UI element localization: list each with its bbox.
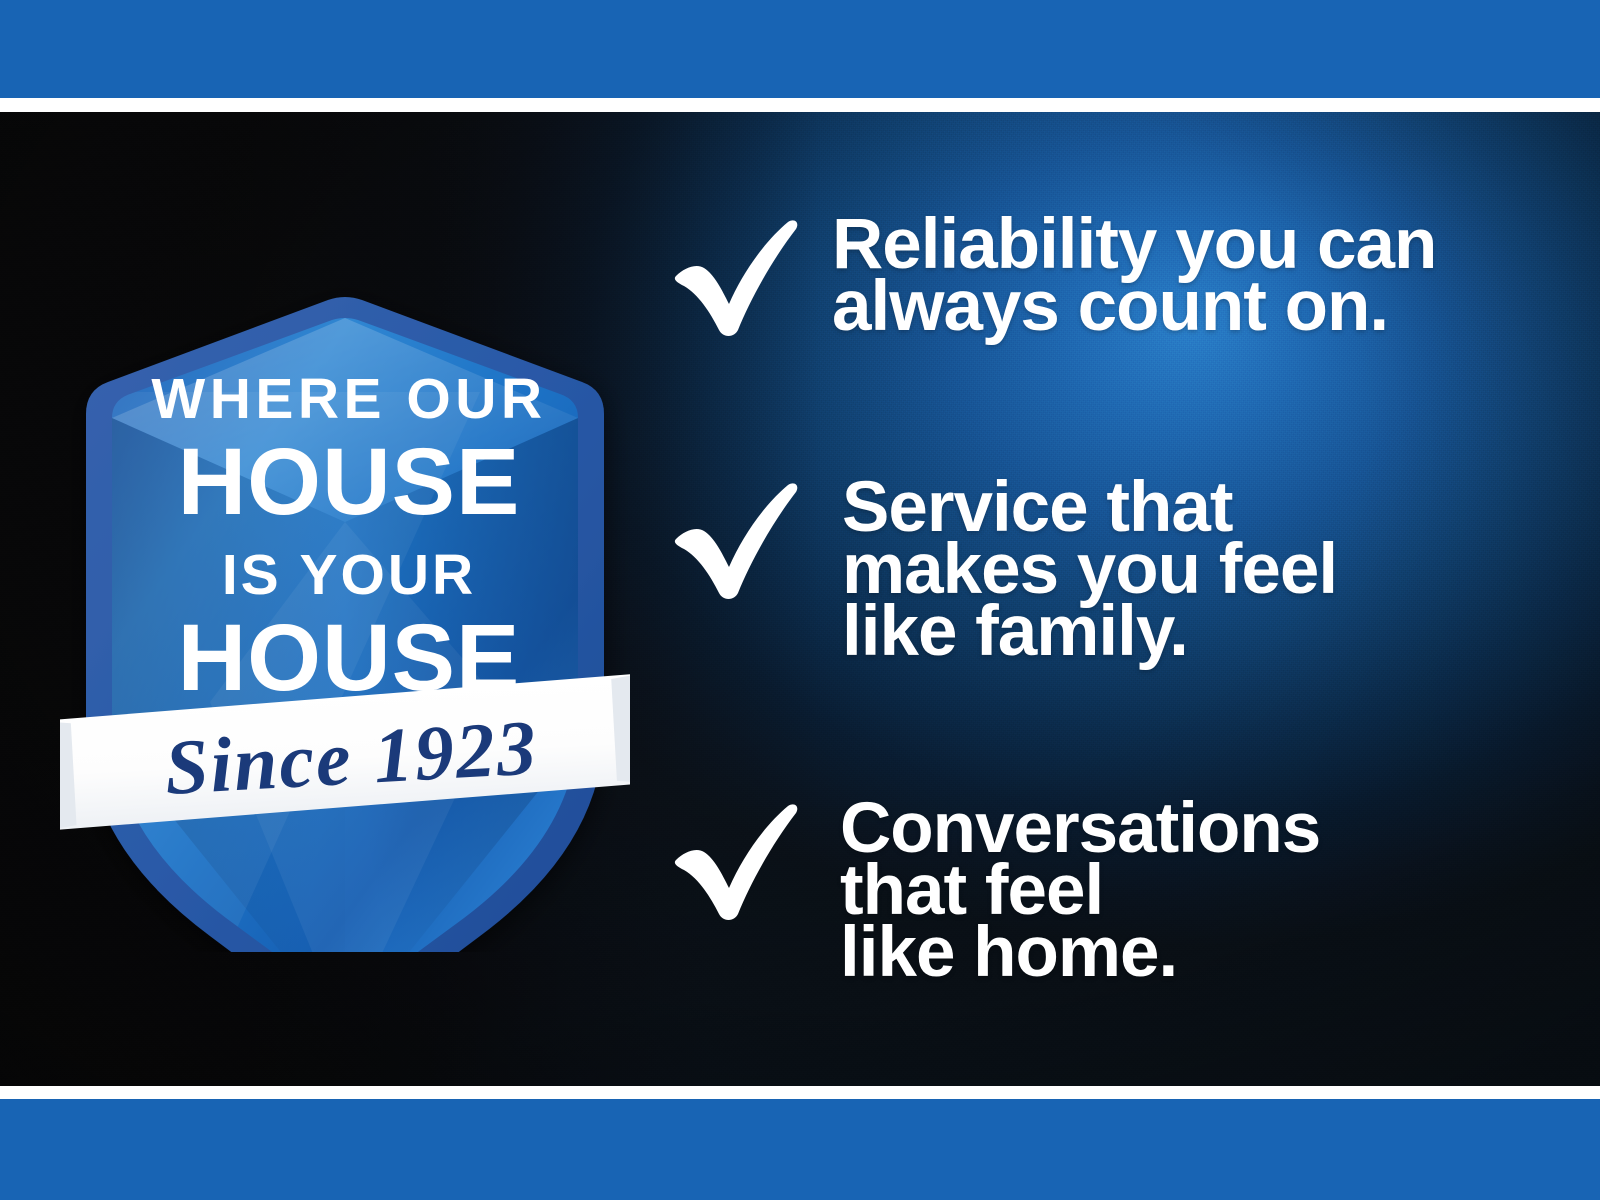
- list-item-text: Service that makes you feel like family.: [842, 475, 1337, 663]
- list-item: Reliability you can always count on.: [668, 212, 1436, 338]
- check-icon: [668, 216, 800, 336]
- list-item: Service that makes you feel like family.: [668, 475, 1337, 663]
- list-item: Conversations that feel like home.: [668, 796, 1320, 984]
- company-badge: WHERE OUR HOUSE IS YOUR HOUSE Since 1923: [60, 272, 630, 952]
- bottom-brand-bar: [0, 1099, 1600, 1200]
- promo-graphic: WHERE OUR HOUSE IS YOUR HOUSE Since 1923: [0, 0, 1600, 1200]
- tagline-line-2: HOUSE: [178, 429, 521, 535]
- top-brand-bar: [0, 0, 1600, 98]
- check-icon: [668, 800, 800, 920]
- list-item-text: Conversations that feel like home.: [840, 796, 1320, 984]
- tagline-line-1: WHERE OUR: [151, 367, 546, 431]
- list-item-text: Reliability you can always count on.: [832, 212, 1436, 338]
- tagline-line-3: IS YOUR: [222, 543, 476, 607]
- benefits-checklist: Reliability you can always count on. Ser…: [668, 212, 1548, 1086]
- check-icon: [668, 479, 800, 599]
- main-stage: WHERE OUR HOUSE IS YOUR HOUSE Since 1923: [0, 112, 1600, 1086]
